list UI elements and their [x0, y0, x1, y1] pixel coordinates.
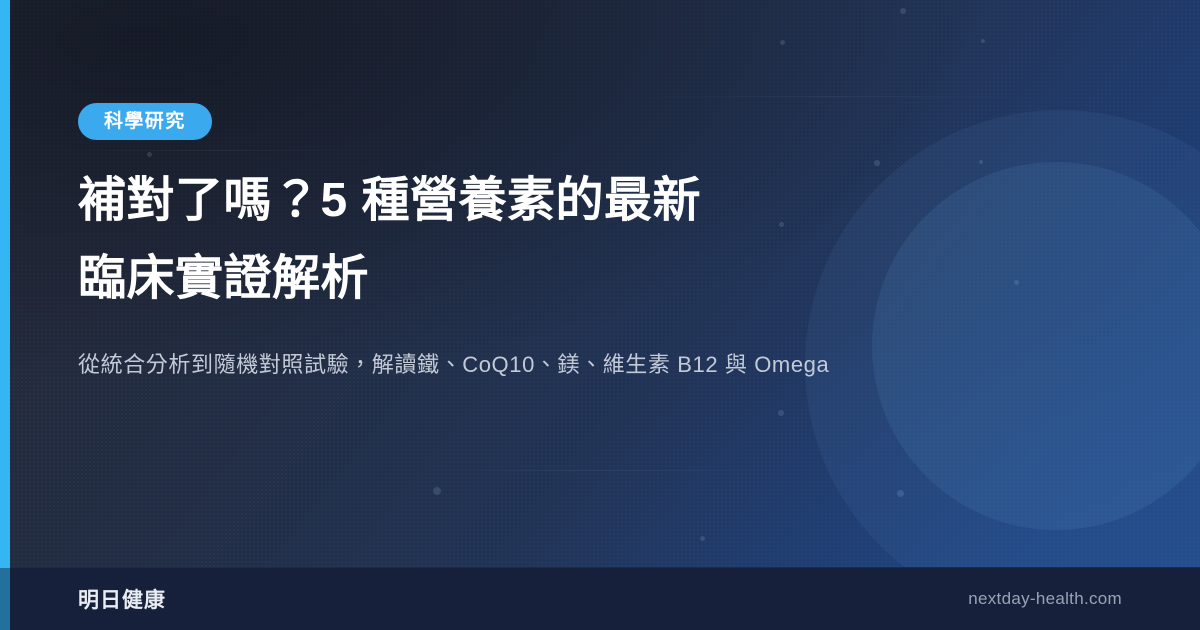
left-accent-bar-footer-shade [0, 568, 10, 630]
page-title-line-2: 臨床實證解析 [78, 252, 369, 305]
footer-inner: 明日健康 nextday-health.com [0, 568, 1200, 630]
page-subtitle: 從統合分析到隨機對照試驗，解讀鐵、CoQ10、鎂、維生素 B12 與 Omega [78, 318, 908, 382]
speck [981, 39, 985, 43]
card-content: 科學研究 補對了嗎？5 種營養素的最新 臨床實證解析 從統合分析到隨機對照試驗，… [78, 0, 938, 382]
category-badge[interactable]: 科學研究 [78, 103, 212, 140]
page-title: 補對了嗎？5 種營養素的最新 臨床實證解析 [78, 140, 878, 318]
speck [1014, 280, 1019, 285]
card-footer: 明日健康 nextday-health.com [0, 567, 1200, 630]
light-streak [420, 470, 780, 471]
speck [778, 410, 784, 416]
speck [433, 487, 441, 495]
page-title-line-1: 補對了嗎？5 種營養素的最新 [78, 174, 701, 227]
og-share-card: 科學研究 補對了嗎？5 種營養素的最新 臨床實證解析 從統合分析到隨機對照試驗，… [0, 0, 1200, 630]
site-url: nextday-health.com [968, 589, 1122, 609]
speck [979, 160, 983, 164]
speck [700, 536, 705, 541]
left-accent-bar [0, 0, 10, 630]
brand-name: 明日健康 [78, 584, 166, 614]
speck [897, 490, 904, 497]
